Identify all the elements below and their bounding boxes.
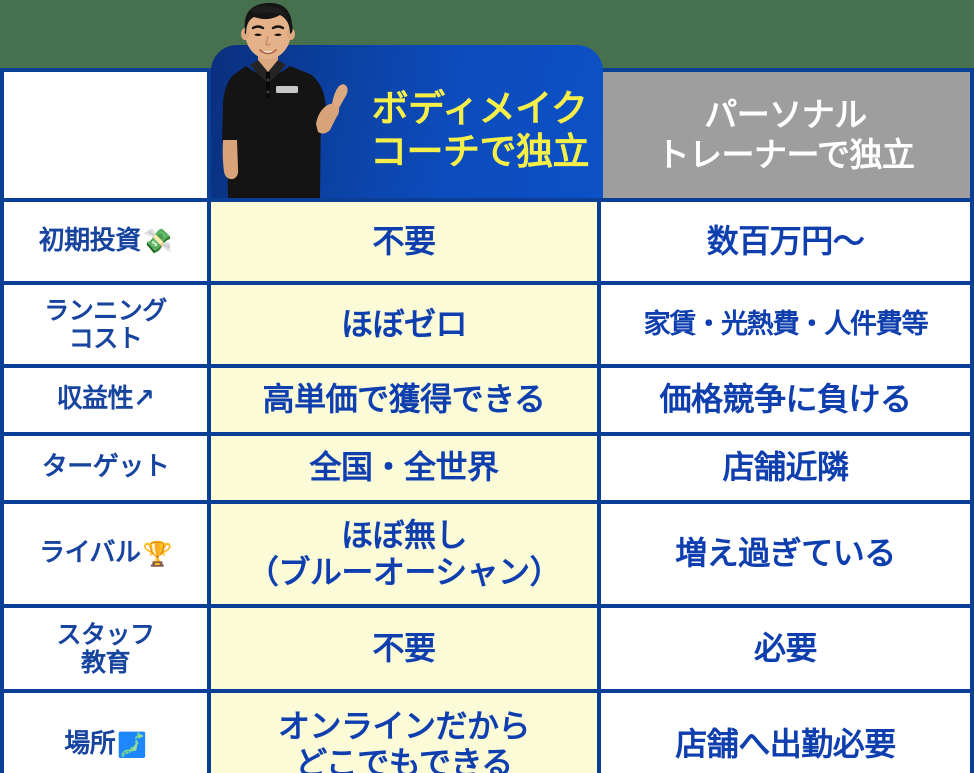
cell-bodymake-rivals-line1: ほぼ無し	[215, 517, 593, 554]
cell-bodymake-location-line1: オンラインだから	[215, 708, 593, 745]
cell-bodymake-running-cost: ほぼゼロ	[211, 285, 601, 364]
cell-bodymake-location: オンラインだから どこでもできる	[211, 693, 601, 773]
row-label-line2: 教育	[8, 649, 203, 677]
row-label-running-cost: ランニング コスト	[4, 285, 211, 364]
table-row: 場所🗾 オンラインだから どこでもできる 店舗へ出勤必要	[4, 693, 974, 773]
cell-trainer-initial-investment: 数百万円〜	[601, 202, 974, 281]
row-label-initial-investment: 初期投資💸	[4, 202, 211, 281]
cell-trainer-location: 店舗へ出勤必要	[601, 693, 974, 773]
cell-bodymake-location-line2: どこでもできる	[215, 745, 593, 773]
cell-bodymake-rivals-line2: （ブルーオーシャン）	[215, 554, 593, 591]
row-label-line1: ランニング	[8, 297, 203, 325]
cell-trainer-target: 店舗近隣	[601, 436, 974, 500]
row-label-text: ライバル	[39, 539, 140, 568]
header-personal-trainer-line2: トレーナーで独立	[601, 135, 970, 175]
cell-bodymake-target: 全国・全世界	[211, 436, 601, 500]
map-of-japan-icon: 🗾	[117, 732, 146, 759]
header-personal-trainer-line1: パーソナル	[601, 95, 970, 135]
cell-bodymake-profitability: 高単価で獲得できる	[211, 368, 601, 432]
cell-trainer-rivals: 増え過ぎている	[601, 504, 974, 604]
row-label-location: 場所🗾	[4, 693, 211, 773]
cell-trainer-profitability: 価格競争に負ける	[601, 368, 974, 432]
table-row: スタッフ 教育 不要 必要	[4, 608, 974, 693]
coach-pointing-photo	[206, 0, 356, 198]
header-col-personal-trainer: パーソナル トレーナーで独立	[601, 72, 974, 198]
cell-bodymake-rivals: ほぼ無し （ブルーオーシャン）	[211, 504, 601, 604]
row-label-line2: コスト	[8, 325, 203, 353]
row-label-profitability: 収益性↗	[4, 368, 211, 432]
row-label-staff-training: スタッフ 教育	[4, 608, 211, 689]
row-label-line1: スタッフ	[8, 621, 203, 649]
money-with-wings-icon: 💸	[143, 228, 172, 255]
table-row: 初期投資💸 不要 数百万円〜	[4, 202, 974, 285]
row-label-target: ターゲット	[4, 436, 211, 500]
row-label-text: 場所	[64, 730, 115, 759]
cell-bodymake-initial-investment: 不要	[211, 202, 601, 281]
cell-trainer-staff-training: 必要	[601, 608, 974, 689]
table-row: ターゲット 全国・全世界 店舗近隣	[4, 436, 974, 504]
row-label-rivals: ライバル🏆	[4, 504, 211, 604]
cell-trainer-running-cost: 家賃・光熱費・人件費等	[601, 285, 974, 364]
trophy-icon: 🏆	[143, 541, 172, 568]
table-row: 収益性↗ 高単価で獲得できる 価格競争に負ける	[4, 368, 974, 436]
cell-bodymake-staff-training: 不要	[211, 608, 601, 689]
table-row: ランニング コスト ほぼゼロ 家賃・光熱費・人件費等	[4, 285, 974, 368]
header-personal-trainer-text: パーソナル トレーナーで独立	[601, 95, 970, 174]
row-label-text: 初期投資	[39, 227, 141, 256]
table-row: ライバル🏆 ほぼ無し （ブルーオーシャン） 増え過ぎている	[4, 504, 974, 608]
header-corner-cell	[4, 72, 211, 198]
